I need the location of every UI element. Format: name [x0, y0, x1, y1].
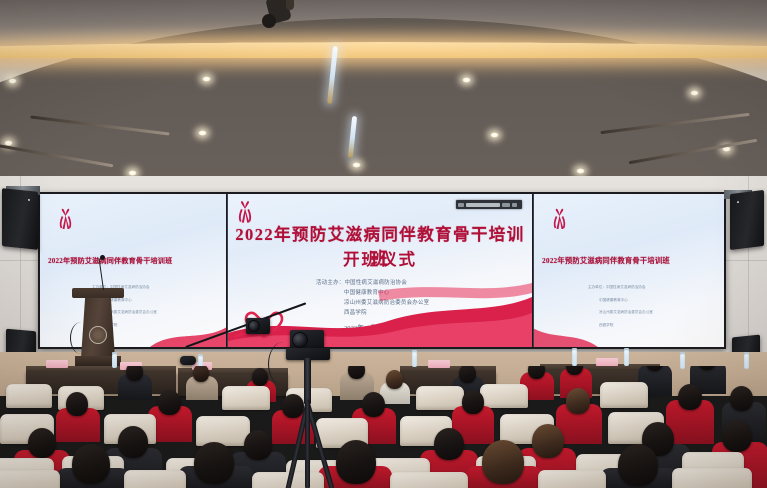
slot-light: [0, 144, 113, 168]
organizer-item: 西昌学院: [588, 322, 613, 328]
attendee-head: [362, 392, 385, 417]
screen-right-organizers: 主办单位：中国性病艾滋病防治协会 中国健康教育中心 凉山州委艾滋病防治委员会办公…: [588, 278, 653, 328]
screen-panel-right: 2022年预防艾滋病同伴教育骨干培训班 主办单位：中国性病艾滋病防治协会 中国健…: [534, 194, 724, 347]
attendee-head: [252, 368, 268, 386]
red-ribbon-icon: [58, 208, 73, 230]
downlight: [198, 130, 207, 136]
attendee-head: [72, 444, 110, 484]
attendee-head: [126, 366, 143, 381]
microphone-head-icon: [100, 255, 105, 260]
attendee-head: [66, 392, 88, 416]
boom-microphone-icon: [180, 356, 196, 365]
cove-light-1: [0, 42, 767, 58]
attendee-head: [336, 440, 376, 484]
attendee-head: [194, 442, 234, 484]
left-wall-speaker: [2, 188, 38, 250]
attendee-head: [462, 390, 484, 414]
water-bottle: [412, 352, 417, 367]
cove-light-2: [0, 128, 767, 146]
organizer-item: 中国性病艾滋病防治协会: [344, 280, 407, 286]
conference-hall-photo: 2022年预防艾滋病同伴教育骨干培训班 主办单位：中国性病艾滋病防治协会 中国健…: [0, 0, 767, 488]
screen-left-title: 2022年预防艾滋病同伴教育骨干培训班: [48, 256, 172, 266]
projector-lens-icon: [262, 14, 276, 28]
attendee-head: [244, 430, 272, 460]
attendee-head: [459, 366, 476, 383]
screen-right-title: 2022年预防艾滋病同伴教育骨干培训班: [542, 256, 670, 266]
camera-lens-icon: [248, 320, 260, 332]
attendee-head: [722, 420, 752, 452]
tripod-column: [304, 358, 311, 404]
table-name-card: [596, 358, 618, 366]
downlight: [690, 90, 699, 96]
downlight: [8, 78, 17, 84]
attendee-head: [158, 390, 181, 415]
water-bottle: [624, 350, 629, 366]
screen-right-organizer-label: 主办单位：: [588, 285, 606, 289]
downlight: [352, 162, 361, 168]
screen-center-organizer-label: 活动主办：: [316, 280, 344, 286]
organizer-item: 西昌学院: [316, 308, 367, 318]
attendee-head: [386, 370, 403, 389]
attendee-head: [434, 428, 464, 460]
auditorium-seat: [124, 470, 186, 488]
screen-panel-left: 2022年预防艾滋病同伴教育骨干培训班 主办单位：中国性病艾滋病防治协会 中国健…: [40, 194, 226, 347]
auditorium-seat: [390, 472, 468, 488]
organizer-item: 凉山州委艾滋病防治委员会办公室: [588, 309, 653, 315]
attendee-head: [532, 424, 564, 458]
attendee-head: [566, 388, 590, 414]
projector-mount: [286, 0, 294, 10]
podium-cable: [70, 322, 92, 354]
auditorium-seat: [600, 382, 648, 408]
attendee-head: [678, 384, 702, 410]
red-ribbon-icon: [552, 208, 567, 230]
attendee-head: [28, 428, 56, 458]
led-display-wall[interactable]: 2022年预防艾滋病同伴教育骨干培训班 主办单位：中国性病艾滋病防治协会 中国健…: [38, 192, 726, 349]
camera-lens-icon: [292, 332, 308, 348]
attendee-head: [618, 444, 658, 486]
screen-panel-center: 2022年预防艾滋病同伴教育骨干培训班 开班仪式 活动主办：中国性病艾滋病防治协…: [228, 194, 532, 347]
right-wall-speaker: [730, 190, 764, 250]
downlight: [462, 77, 471, 83]
audience-area: [0, 366, 767, 488]
ribbon-swoosh-decoration: [150, 317, 226, 347]
organizer-item: 凉山州委艾滋病防治委员会办公室: [316, 298, 429, 308]
screen-center-organizers: 活动主办：中国性病艾滋病防治协会 中国健康教育中心 凉山州委艾滋病防治委员会办公…: [316, 278, 429, 318]
screen-date: 2022年11月: [344, 322, 377, 332]
attendee-head: [118, 426, 148, 458]
downlight: [576, 168, 585, 174]
auditorium-seat: [0, 470, 60, 488]
downlight: [202, 76, 211, 82]
podium-top: [72, 288, 124, 298]
screen-main-subtitle: 开班仪式: [228, 246, 532, 270]
auditorium-seat: [480, 384, 528, 408]
auditorium-seat: [6, 384, 52, 408]
organizer-item: 中国健康教育中心: [588, 297, 628, 303]
auditorium-seat: [672, 468, 752, 488]
attendee-head: [193, 366, 209, 382]
attendee-head: [730, 386, 753, 411]
ceiling: [0, 0, 767, 186]
camera-cable: [268, 342, 298, 386]
auditorium-seat: [196, 416, 250, 446]
downlight: [490, 132, 499, 138]
screen-osd-bar[interactable]: [456, 200, 522, 209]
auditorium-seat: [222, 386, 270, 410]
attendee-head: [482, 440, 524, 484]
organizer-item: 中国健康教育中心: [316, 288, 390, 298]
auditorium-seat: [538, 470, 606, 488]
attendee-head: [282, 394, 304, 418]
water-bottle: [572, 350, 577, 366]
tripod-leg: [305, 404, 310, 488]
organizer-item: 中国性病艾滋病防治协会: [606, 285, 646, 289]
